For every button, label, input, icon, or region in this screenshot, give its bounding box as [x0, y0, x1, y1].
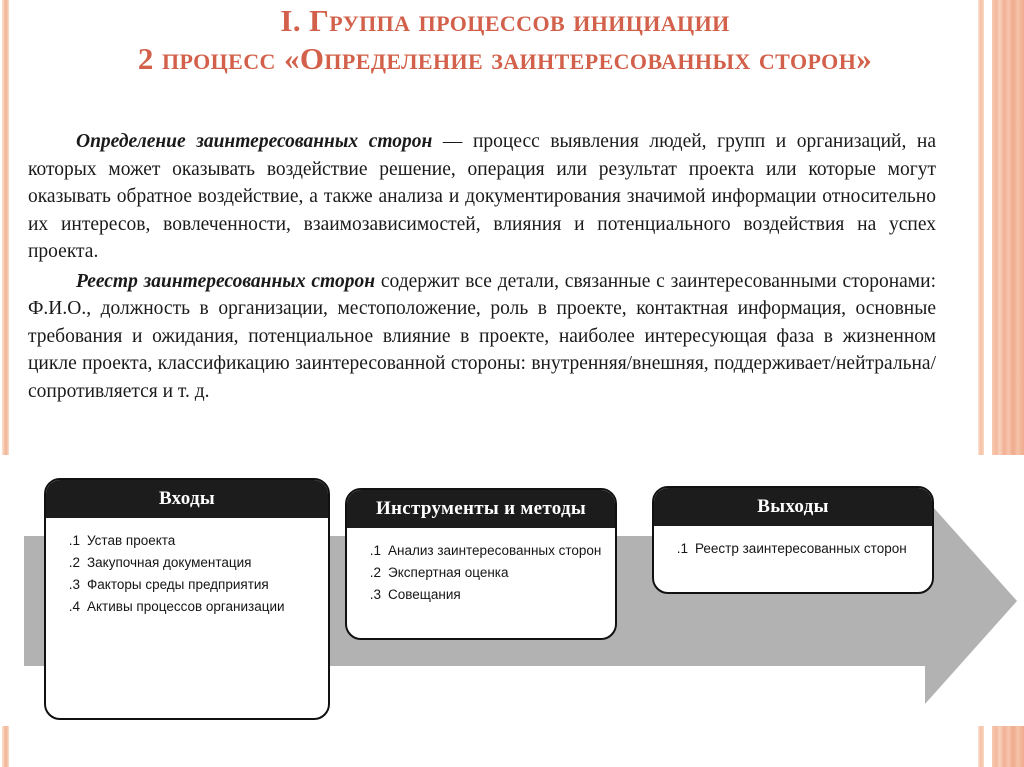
- list-item: .1 Реестр заинтересованных сторон: [666, 538, 922, 560]
- list-item-number: .1: [58, 530, 80, 552]
- right-edge-band-top: [992, 0, 1024, 455]
- card-outputs-title: Выходы: [654, 488, 932, 526]
- list-item-label: Совещания: [388, 584, 461, 606]
- card-tools-and-techniques: Инструменты и методы .1 Анализ заинтерес…: [345, 488, 617, 640]
- card-tools-list: .1 Анализ заинтересованных сторон .2 Экс…: [347, 528, 615, 616]
- list-item-number: .4: [58, 596, 80, 618]
- list-item-label: Устав проекта: [87, 530, 175, 552]
- paragraph-definition-lead: Определение заинтересованных сторон: [76, 131, 432, 152]
- list-item: .1 Анализ заинтересованных сторон: [359, 540, 605, 562]
- list-item-number: .3: [58, 574, 80, 596]
- card-outputs: Выходы .1 Реестр заинтересованных сторон: [652, 486, 934, 594]
- left-edge-stripe-bottom: [2, 726, 9, 767]
- list-item-number: .3: [359, 584, 381, 606]
- list-item-number: .1: [359, 540, 381, 562]
- list-item-number: .1: [666, 538, 688, 560]
- slide-title-line-2: 2 процесс «Определение заинтересованных …: [40, 40, 970, 78]
- slide: I. Группа процессов инициации 2 процесс …: [0, 0, 1024, 767]
- list-item-label: Экспертная оценка: [388, 562, 509, 584]
- process-arrow-head: [925, 498, 1017, 704]
- list-item: .1 Устав проекта: [58, 530, 318, 552]
- card-inputs: Входы .1 Устав проекта .2 Закупочная док…: [44, 478, 330, 720]
- list-item-label: Закупочная документация: [87, 552, 251, 574]
- list-item: .3 Факторы среды предприятия: [58, 574, 318, 596]
- right-edge-band-bottom: [992, 726, 1024, 767]
- list-item: .2 Закупочная документация: [58, 552, 318, 574]
- card-tools-title: Инструменты и методы: [347, 490, 615, 528]
- list-item: .2 Экспертная оценка: [359, 562, 605, 584]
- list-item: .4 Активы процессов организации: [58, 596, 318, 618]
- slide-title-line-1: I. Группа процессов инициации: [40, 2, 970, 40]
- card-inputs-list: .1 Устав проекта .2 Закупочная документа…: [46, 518, 328, 628]
- list-item-number: .2: [58, 552, 80, 574]
- list-item-number: .2: [359, 562, 381, 584]
- left-edge-stripe-top: [2, 0, 9, 455]
- list-item-label: Активы процессов организации: [87, 596, 285, 618]
- slide-title: I. Группа процессов инициации 2 процесс …: [40, 2, 970, 78]
- list-item: .3 Совещания: [359, 584, 605, 606]
- body-text: Определение заинтересованных сторон — пр…: [28, 128, 936, 405]
- list-item-label: Реестр заинтересованных сторон: [695, 538, 907, 560]
- card-inputs-title: Входы: [46, 480, 328, 518]
- right-thin-stripe-bottom: [978, 726, 984, 767]
- list-item-label: Факторы среды предприятия: [87, 574, 269, 596]
- paragraph-register: Реестр заинтересованных сторон содержит …: [28, 268, 936, 406]
- paragraph-register-lead: Реестр заинтересованных сторон: [76, 271, 375, 292]
- right-thin-stripe-top: [978, 0, 984, 455]
- process-diagram: Входы .1 Устав проекта .2 Закупочная док…: [0, 470, 1024, 720]
- list-item-label: Анализ заинтересованных сторон: [388, 540, 601, 562]
- paragraph-definition: Определение заинтересованных сторон — пр…: [28, 128, 936, 266]
- card-outputs-list: .1 Реестр заинтересованных сторон: [654, 526, 932, 570]
